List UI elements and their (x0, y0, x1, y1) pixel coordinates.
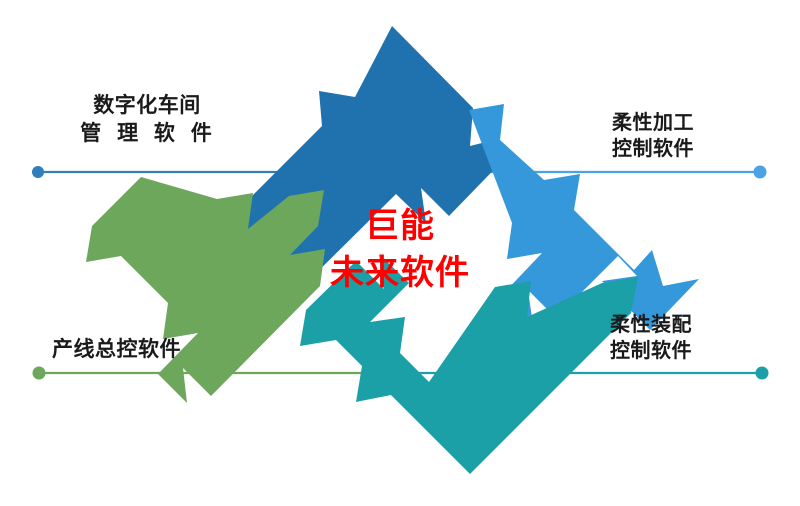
connector-dot-bottom-right (756, 367, 769, 380)
connector-dot-bottom-left (33, 367, 46, 380)
label-flexible-assembly-line2: 控制软件 (610, 338, 692, 364)
center-brand-line1: 巨能 (280, 206, 520, 247)
label-flexible-machining-line1: 柔性加工 (612, 110, 694, 136)
label-line-master-control-line1: 产线总控软件 (52, 336, 181, 364)
connector-dot-top-left (32, 166, 44, 178)
connector-dot-top-right (754, 166, 767, 179)
center-brand-line2: 未来软件 (280, 253, 520, 294)
label-flexible-assembly[interactable]: 柔性装配 控制软件 (610, 312, 692, 365)
diagram-canvas: 数字化车间 管 理 软 件 柔性加工 控制软件 柔性装配 控制软件 产线总控软件… (0, 0, 800, 506)
label-flexible-assembly-line1: 柔性装配 (610, 312, 692, 338)
label-digital-workshop-line2: 管 理 软 件 (55, 120, 242, 148)
center-brand-text: 巨能 未来软件 (280, 206, 520, 295)
label-digital-workshop-line1: 数字化车间 (52, 92, 242, 120)
label-line-master-control[interactable]: 产线总控软件 (52, 336, 181, 364)
label-flexible-machining[interactable]: 柔性加工 控制软件 (612, 110, 694, 163)
label-flexible-machining-line2: 控制软件 (612, 136, 694, 162)
label-digital-workshop[interactable]: 数字化车间 管 理 软 件 (52, 92, 242, 147)
